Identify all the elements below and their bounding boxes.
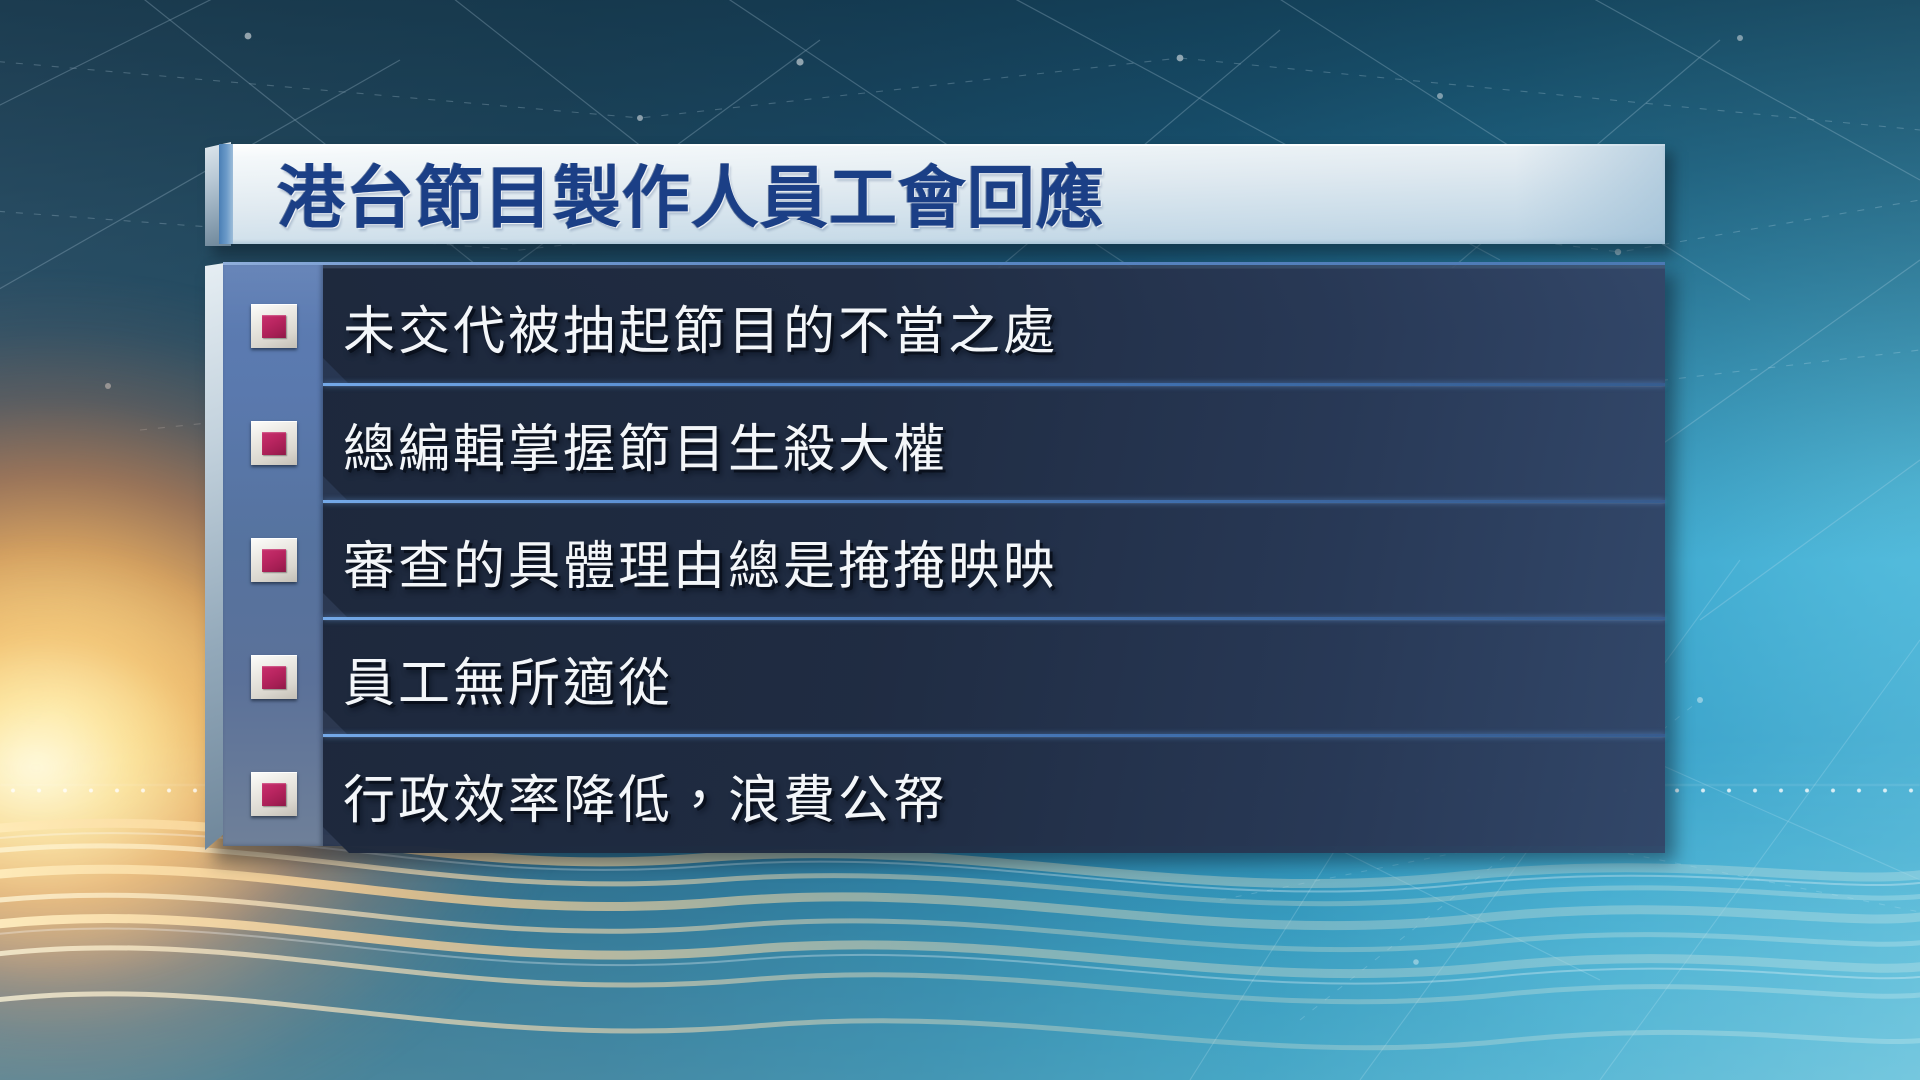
list-item-label: 未交代被抽起節目的不當之處 (343, 289, 1058, 364)
square-bullet-fill-icon (262, 549, 286, 572)
square-bullet-icon (251, 655, 297, 699)
title-banner-bar: 港台節目製作人員工會回應 (219, 144, 1665, 244)
list-item-label: 審查的具體理由總是掩掩映映 (343, 524, 1058, 599)
square-bullet-fill-icon (262, 783, 286, 806)
list-item: 總編輯掌握節目生殺大權 (323, 386, 1665, 502)
list-item: 審查的具體理由總是掩掩映映 (323, 503, 1665, 619)
row-separator (323, 734, 1665, 737)
list-item: 行政效率降低，浪費公帑 (323, 737, 1665, 853)
row-separator (323, 617, 1665, 620)
news-graphic-stage: 港台節目製作人員工會回應 未交代被抽起節目的不當之處總編輯掌握節目生殺大權審查的… (0, 0, 1920, 1080)
bullet-list: 未交代被抽起節目的不當之處總編輯掌握節目生殺大權審查的具體理由總是掩掩映映員工無… (323, 262, 1665, 846)
row-separator (323, 500, 1665, 503)
square-bullet-fill-icon (262, 666, 286, 689)
bullet-panel: 未交代被抽起節目的不當之處總編輯掌握節目生殺大權審查的具體理由總是掩掩映映員工無… (205, 262, 1665, 850)
title-banner: 港台節目製作人員工會回應 (205, 142, 1665, 246)
row-separator (323, 383, 1665, 386)
list-item-label: 總編輯掌握節目生殺大權 (343, 407, 948, 482)
square-bullet-fill-icon (262, 315, 286, 338)
square-bullet-icon (251, 772, 297, 816)
square-bullet-fill-icon (262, 432, 286, 455)
list-item-label: 員工無所適從 (343, 641, 673, 716)
square-bullet-icon (251, 421, 297, 465)
square-bullet-icon (251, 538, 297, 582)
list-item: 員工無所適從 (323, 620, 1665, 736)
list-item-label: 行政效率降低，浪費公帑 (343, 758, 948, 833)
square-bullet-icon (251, 304, 297, 348)
page-title: 港台節目製作人員工會回應 (277, 143, 1105, 242)
list-item: 未交代被抽起節目的不當之處 (323, 268, 1665, 384)
